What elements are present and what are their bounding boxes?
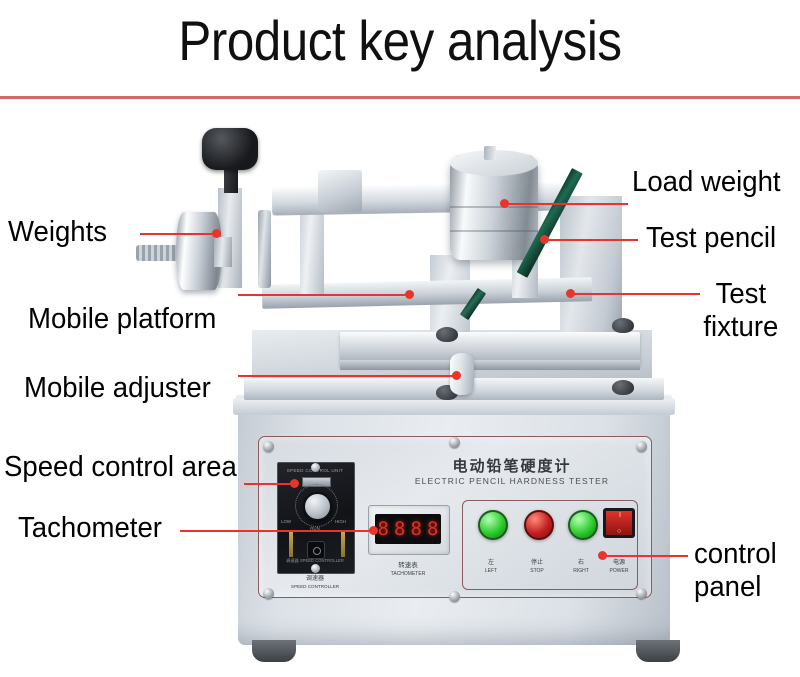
speed-controller-caption: 调速器SPEED CONTROLLER	[277, 576, 353, 591]
label-test-pencil: Test pencil	[646, 222, 776, 255]
power-switch[interactable]	[603, 508, 635, 538]
leader-dot-mobile-platform	[405, 290, 414, 299]
arm-block	[318, 170, 362, 212]
panel-title-cn: 电动铅笔硬度计	[382, 455, 642, 476]
power-switch-en: POWER	[610, 568, 629, 574]
cabinet-top	[233, 398, 675, 415]
speed-unit-footer: 调速器 SPEED CONTROLLER	[277, 558, 353, 563]
label-weights: Weights	[8, 216, 107, 249]
speed-controller-caption-en: SPEED CONTROLLER	[291, 584, 339, 589]
tach-digit-4: 8	[427, 520, 438, 539]
leader-mobile-adjuster	[238, 375, 458, 377]
speed-high-label: HIGH	[335, 519, 346, 524]
stop-button-cn: 停止	[531, 560, 543, 566]
leader-dot-load-weight	[500, 199, 509, 208]
speed-port	[307, 541, 325, 559]
left-button-en: LEFT	[485, 568, 497, 574]
left-button-caption: 左LEFT	[471, 560, 511, 575]
panel-screw-bc	[449, 591, 460, 602]
leader-load-weight	[504, 203, 628, 205]
leader-dot-test-pencil	[540, 235, 549, 244]
speed-low-label: LOW	[281, 519, 291, 524]
panel-screw-tl	[263, 441, 274, 452]
machine-illustration: 电动铅笔硬度计 ELECTRIC PENCIL HARDNESS TESTER …	[0, 0, 800, 677]
leader-tachometer	[180, 530, 375, 532]
tach-digit-2: 8	[394, 520, 405, 539]
tachometer-caption: 转速表TACHOMETER	[368, 562, 448, 578]
label-control-panel: control panel	[694, 538, 777, 604]
leader-dot-test-fixture	[566, 289, 575, 298]
right-button-caption: 右RIGHT	[561, 560, 601, 575]
load-weight-groove-1	[450, 206, 538, 208]
tachometer-caption-cn: 转速表	[398, 562, 418, 569]
speed-panel-screw-bottom	[311, 564, 320, 573]
leader-test-fixture	[572, 293, 700, 295]
power-switch-cn: 电源	[613, 560, 625, 566]
panel-screw-br	[636, 588, 647, 599]
speed-control-knob[interactable]	[303, 492, 332, 521]
bumper-right	[612, 318, 634, 333]
stop-button-caption: 停止STOP	[517, 560, 557, 575]
load-weight-nub	[484, 146, 496, 160]
tach-digit-1: 8	[378, 520, 389, 539]
leader-control-panel	[602, 555, 688, 557]
speed-controller-caption-cn: 调速器	[306, 576, 324, 582]
leader-test-pencil	[546, 239, 638, 241]
tach-digit-3: 8	[411, 520, 422, 539]
left-button-cn: 左	[488, 560, 494, 566]
tachometer-display: 8 8 8 8	[375, 514, 441, 544]
top-adjust-knob[interactable]	[202, 128, 258, 170]
support-rod	[258, 210, 271, 288]
leader-weights	[140, 233, 218, 235]
stop-button[interactable]	[524, 510, 554, 540]
label-tachometer: Tachometer	[18, 512, 162, 545]
panel-screw-tr	[636, 441, 647, 452]
leader-dot-speed-control	[290, 479, 299, 488]
leader-dot-weights	[212, 229, 221, 238]
speed-panel-screw-top	[311, 463, 320, 472]
label-test-fixture: Test fixture	[700, 278, 782, 344]
cabinet-foot-left	[252, 640, 296, 662]
load-weight-groove-2	[450, 230, 538, 232]
tachometer-caption-en: TACHOMETER	[391, 571, 426, 577]
bumper-left	[436, 327, 458, 342]
label-mobile-adjuster: Mobile adjuster	[24, 372, 211, 405]
weight-nut	[214, 237, 232, 267]
bumper-right-lower	[612, 380, 634, 395]
label-mobile-platform: Mobile platform	[28, 303, 216, 336]
label-speed-control-area: Speed control area	[4, 451, 237, 484]
label-load-weight: Load weight	[632, 166, 781, 199]
speed-terminal-right	[341, 531, 345, 557]
left-button[interactable]	[478, 510, 508, 540]
platform-rail-lower	[340, 360, 640, 370]
leader-dot-mobile-adjuster	[452, 371, 461, 380]
speed-terminal-left	[289, 531, 293, 557]
power-switch-caption: 电源POWER	[599, 560, 639, 575]
panel-screw-bl	[263, 588, 274, 599]
panel-title-en: ELECTRIC PENCIL HARDNESS TESTER	[382, 476, 642, 486]
leader-dot-tachometer	[369, 526, 378, 535]
leader-speed-control	[244, 483, 296, 485]
right-button-en: RIGHT	[573, 568, 589, 574]
leader-mobile-platform	[238, 294, 410, 296]
leader-dot-control-panel	[598, 551, 607, 560]
right-button[interactable]	[568, 510, 598, 540]
stop-button-en: STOP	[530, 568, 544, 574]
cabinet-foot-right	[636, 640, 680, 662]
right-button-cn: 右	[578, 560, 584, 566]
panel-screw-tc	[449, 437, 460, 448]
